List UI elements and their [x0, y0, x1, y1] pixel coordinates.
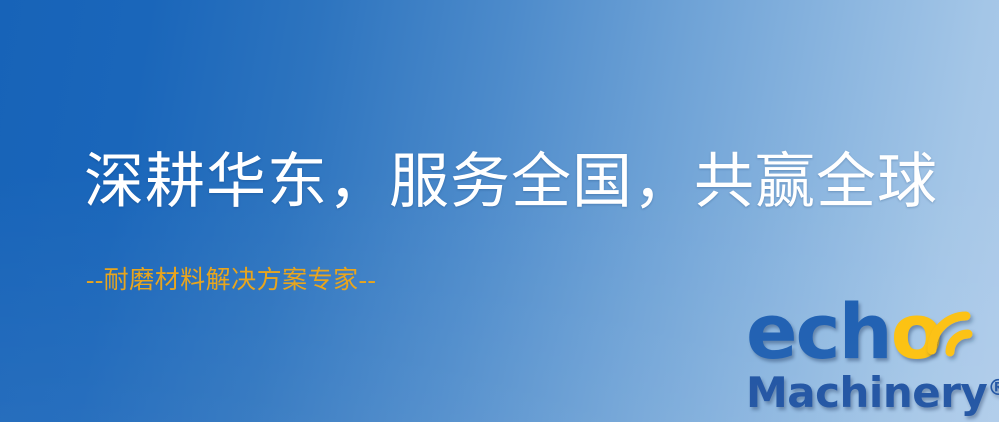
registered-trademark-icon: ®: [987, 376, 999, 401]
logo-tagline: Machinery: [746, 368, 987, 417]
echo-machinery-logo[interactable]: echo Machinery®: [744, 296, 996, 420]
signal-arcs-icon: [922, 294, 992, 356]
headline-text: 深耕华东，服务全国，共赢全球: [84, 152, 938, 212]
hero-banner: 深耕华东，服务全国，共赢全球 --耐磨材料解决方案专家-- echo Machi…: [0, 0, 999, 422]
logo-machinery-text: Machinery®: [746, 364, 999, 418]
subtitle-text: --耐磨材料解决方案专家--: [86, 268, 376, 293]
logo-echo-prefix: ech: [746, 287, 891, 376]
logo-echo-text: echo: [746, 296, 941, 368]
logo-wordmark: echo: [744, 296, 996, 368]
